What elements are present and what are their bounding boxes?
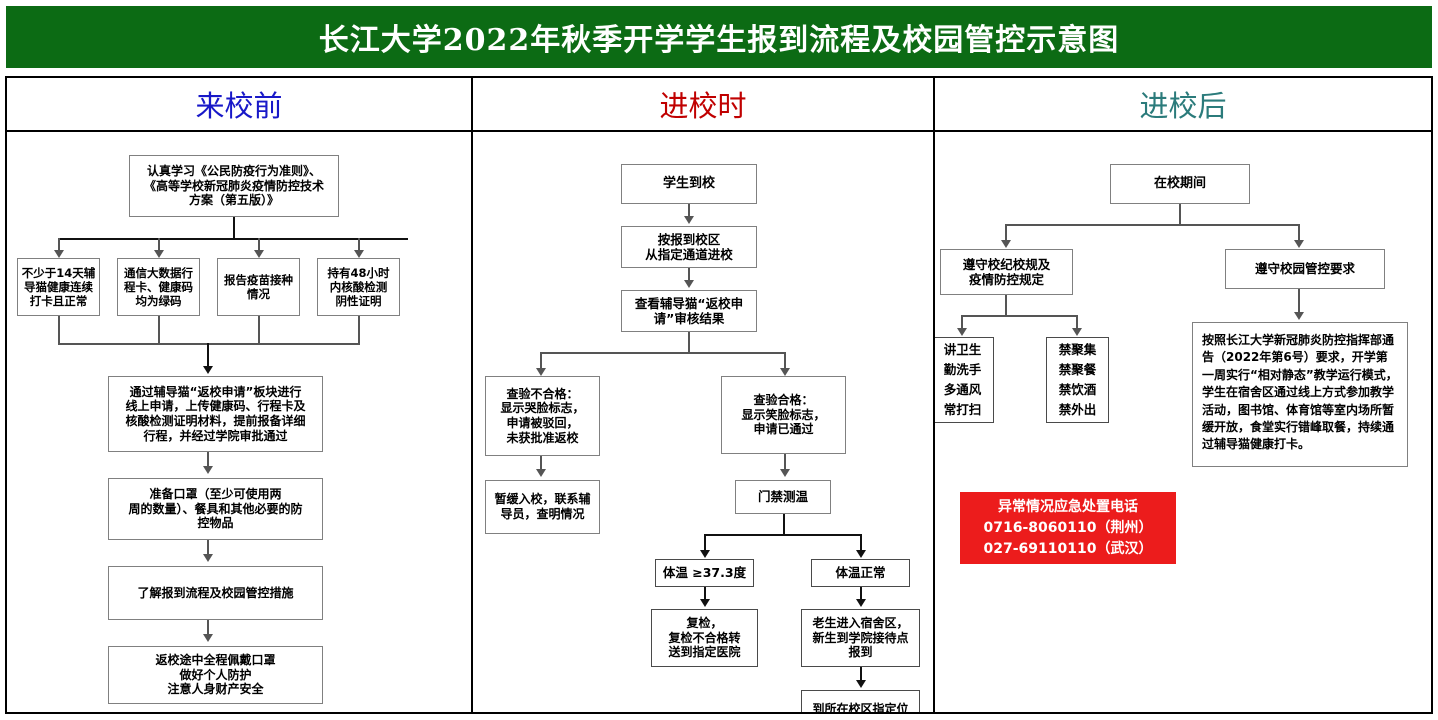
box-during-school: 在校期间: [1110, 164, 1250, 204]
box-check-passed: 查验合格： 显示笑脸标志， 申请已通过: [721, 376, 846, 454]
title-band: 长江大学2022年秋季开学学生报到流程及校园管控示意图: [6, 6, 1432, 68]
emergency-contact-box: 异常情况应急处置电话 0716-8060110（荆州） 027-69110110…: [960, 492, 1176, 564]
box-nucleic-acid-test: 到所在校区指定位 置参加核酸检测: [801, 690, 920, 712]
box-designated-channel: 按报到校区 从指定通道进校: [621, 226, 757, 268]
emergency-phone-wuhan: 027-69110110（武汉）: [984, 539, 1153, 560]
box-requirement-checkin: 不少于14天辅 导猫健康连续 打卡且正常: [17, 258, 100, 316]
box-student-arrives: 学生到校: [621, 164, 757, 204]
column-header-entering-label: 进校时: [659, 83, 746, 125]
box-gathering-bans: 禁聚集 禁聚餐 禁饮酒 禁外出: [1046, 337, 1109, 423]
box-requirement-vaccine: 报告疫苗接种 情况: [217, 258, 300, 316]
box-study-guidelines: 认真学习《公民防疫行为准则》、 《高等学校新冠肺炎疫情防控技术 方案（第五版）》: [129, 155, 339, 217]
page-title: 长江大学2022年秋季开学学生报到流程及校园管控示意图: [319, 15, 1120, 59]
emergency-title: 异常情况应急处置电话: [998, 497, 1138, 518]
box-prepare-supplies: 准备口罩（至少可使用两 周的数量）、餐具和其他必要的防 控物品: [108, 478, 323, 540]
column-header-after: 进校后: [935, 78, 1431, 130]
column-header-entering: 进校时: [473, 78, 935, 130]
column-header-before-label: 来校前: [195, 83, 282, 125]
box-requirement-nucleic-acid: 持有48小时 内核酸检测 阴性证明: [317, 258, 400, 316]
box-check-failed: 查验不合格： 显示哭脸标志， 申请被驳回， 未获批准返校: [485, 376, 600, 456]
box-online-application: 通过辅导猫“返校申请”板块进行 线上申请，上传健康码、行程卡及 核酸检测证明材料…: [108, 376, 323, 452]
box-travel-protection: 返校途中全程佩戴口罩 做好个人防护 注意人身财产安全: [108, 646, 323, 704]
column-header-before: 来校前: [7, 78, 473, 130]
emergency-phone-jingzhou: 0716-8060110（荆州）: [984, 518, 1153, 539]
column-before-arrival: 认真学习《公民防疫行为准则》、 《高等学校新冠肺炎疫情防控技术 方案（第五版）》…: [7, 132, 473, 712]
box-requirement-green-code: 通信大数据行 程卡、健康码 均为绿码: [117, 258, 200, 316]
column-header-row: 来校前 进校时 进校后: [7, 78, 1431, 132]
box-gate-temperature: 门禁测温: [735, 480, 831, 514]
box-temperature-normal: 体温正常: [811, 559, 910, 587]
box-recheck-hospital: 复检， 复检不合格转 送到指定医院: [651, 609, 758, 667]
flowchart-table: 来校前 进校时 进校后 认真学习《公民防疫行为准则》、 《高等学校新冠肺炎疫情防…: [5, 76, 1433, 714]
box-review-result: 查看辅导猫“返校申 请”审核结果: [621, 290, 757, 332]
box-campus-control: 遵守校园管控要求: [1225, 249, 1385, 289]
box-follow-rules: 遵守校纪校规及 疫情防控规定: [940, 249, 1073, 295]
box-learn-process: 了解报到流程及校园管控措施: [108, 566, 323, 620]
flowchart-page: 长江大学2022年秋季开学学生报到流程及校园管控示意图 来校前 进校时 进校后 …: [0, 0, 1438, 720]
box-dorm-or-reception: 老生进入宿舍区， 新生到学院接待点 报到: [801, 609, 920, 667]
column-after-entry: 在校期间 遵守校纪校规及 疫情防控规定 遵守校园管控要求 讲卫生 勤洗手 多通风…: [935, 132, 1431, 712]
box-teaching-notice: 按照长江大学新冠肺炎防控指挥部通告（2022年第6号）要求，开学第一周实行“相对…: [1192, 322, 1408, 467]
box-hygiene-habits: 讲卫生 勤洗手 多通风 常打扫: [935, 337, 994, 423]
column-header-after-label: 进校后: [1139, 83, 1226, 125]
box-postpone-entry: 暂缓入校，联系辅 导员，查明情况: [485, 480, 600, 534]
box-temperature-high: 体温 ≥37.3度: [655, 559, 754, 587]
column-on-entry: 学生到校 按报到校区 从指定通道进校 查看辅导猫“返校申 请”审核结果 查验不合…: [473, 132, 935, 712]
column-body-row: 认真学习《公民防疫行为准则》、 《高等学校新冠肺炎疫情防控技术 方案（第五版）》…: [7, 132, 1431, 712]
